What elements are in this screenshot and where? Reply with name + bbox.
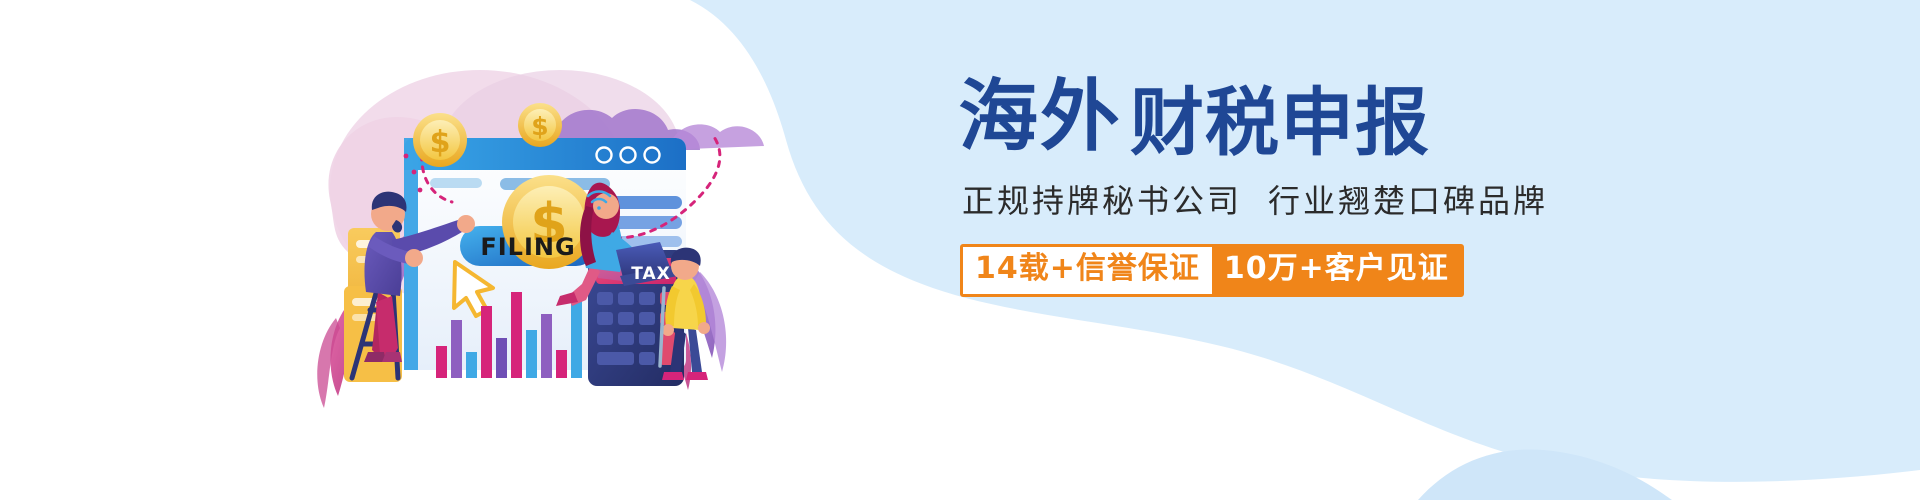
calculator-label: TAX [624,264,678,284]
headline-part-1: 海外 [958,78,1121,156]
promo-banner: $ $ $ [0,0,1920,500]
status-badge-customers: 10万+客户见证 [1212,247,1461,294]
filing-button-label: FILING [473,233,583,261]
coin-small-2: $ [518,103,562,147]
headline-part-2: 财税申报 [1130,86,1430,160]
svg-text:$: $ [531,112,548,141]
subtitle: 正规持牌秘书公司行业翘楚口碑品牌 [962,176,1548,222]
copy-block: 海外 财税申报 正规持牌秘书公司行业翘楚口碑品牌 14载+信誉保证 10万+客户… [960,78,1860,408]
page-title: 海外 财税申报 [960,78,1430,156]
status-badge-experience: 14载+信誉保证 [963,247,1212,294]
coin-small-1: $ [413,113,467,167]
svg-text:$: $ [430,125,451,160]
badge-group: 14载+信誉保证 10万+客户见证 [960,244,1464,297]
subtitle-part-1: 正规持牌秘书公司 [962,182,1242,220]
subtitle-part-2: 行业翘楚口碑品牌 [1268,182,1548,220]
